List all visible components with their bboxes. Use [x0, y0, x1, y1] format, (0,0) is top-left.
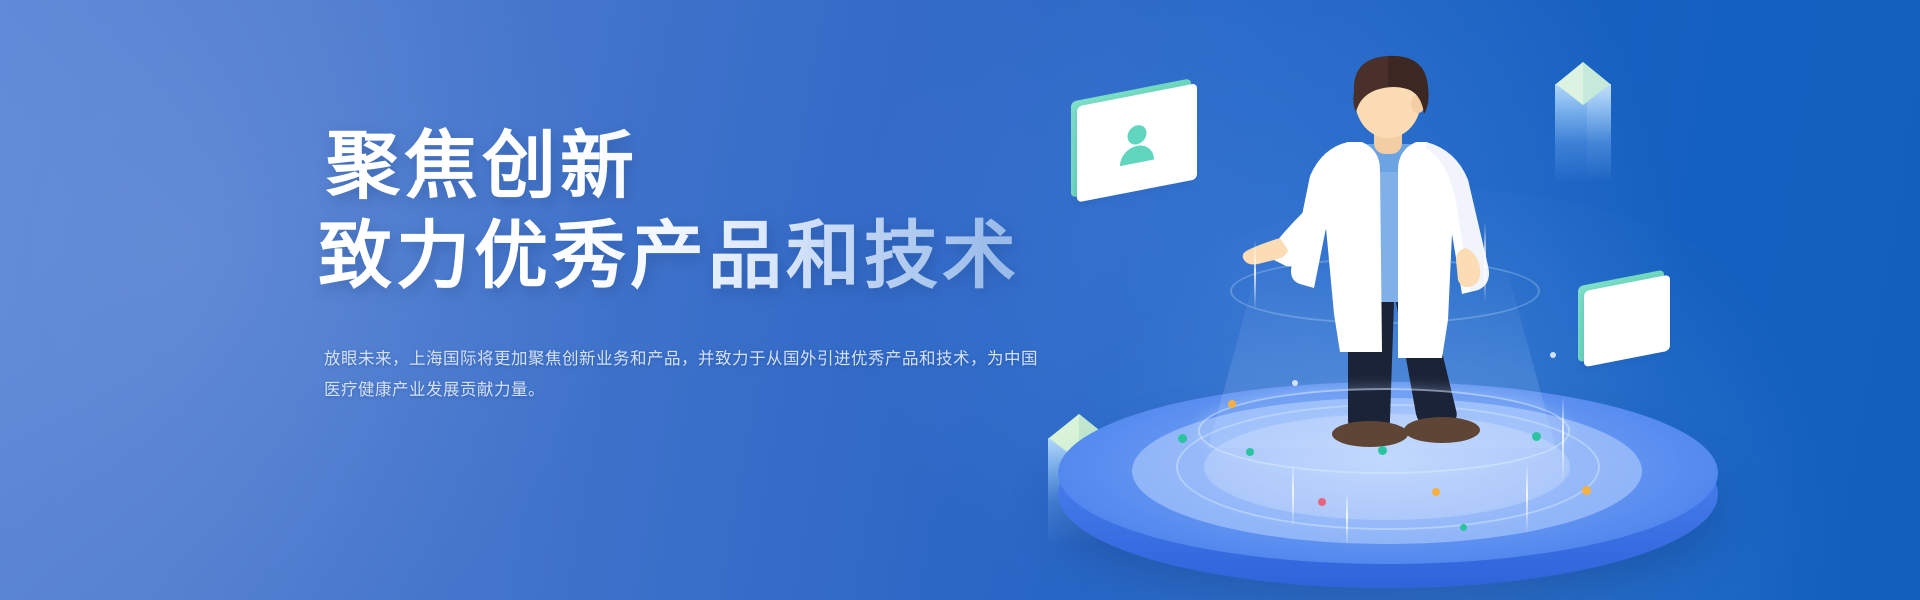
streak-1	[1292, 462, 1294, 528]
hero-banner: 聚焦创新 致力优秀产品和技术 放眼未来，上海国际将更加聚焦创新业务和产品，并致力…	[0, 0, 1920, 600]
hologram-bottom-rim	[1198, 388, 1570, 474]
card-face	[1584, 274, 1670, 367]
dot-orange-2	[1432, 488, 1440, 496]
user-card	[1071, 90, 1191, 186]
headline-line-1: 聚焦创新	[326, 118, 1078, 214]
dot-teal-1	[1178, 434, 1187, 443]
dot-teal-2	[1246, 448, 1254, 456]
dot-teal-3	[1532, 432, 1541, 441]
dot-orange-1	[1228, 400, 1236, 408]
dot-orange-3	[1582, 486, 1591, 495]
streak-4	[1562, 396, 1564, 482]
dot-teal-4	[1460, 524, 1467, 531]
user-avatar-icon	[1113, 114, 1161, 171]
illustration-stage	[1080, 0, 1920, 600]
bar-top-face	[1555, 60, 1611, 106]
3d-bar-right-icon	[1555, 60, 1611, 180]
dot-green-1	[1378, 446, 1387, 455]
dot-white-2	[1550, 352, 1556, 358]
blank-card	[1578, 278, 1664, 354]
streak-2	[1346, 492, 1348, 546]
dot-white-1	[1292, 380, 1298, 386]
streak-5	[1254, 240, 1256, 310]
streak-6	[1484, 222, 1486, 302]
banner-description: 放眼未来，上海国际将更加聚焦创新业务和产品，并致力于从国外引进优秀产品和技术，为…	[324, 344, 1044, 405]
banner-copy: 聚焦创新 致力优秀产品和技术 放眼未来，上海国际将更加聚焦创新业务和产品，并致力…	[318, 118, 1078, 405]
dot-pink-1	[1318, 498, 1326, 506]
headline-line-2: 致力优秀产品和技术	[318, 208, 1078, 304]
streak-3	[1526, 462, 1528, 534]
